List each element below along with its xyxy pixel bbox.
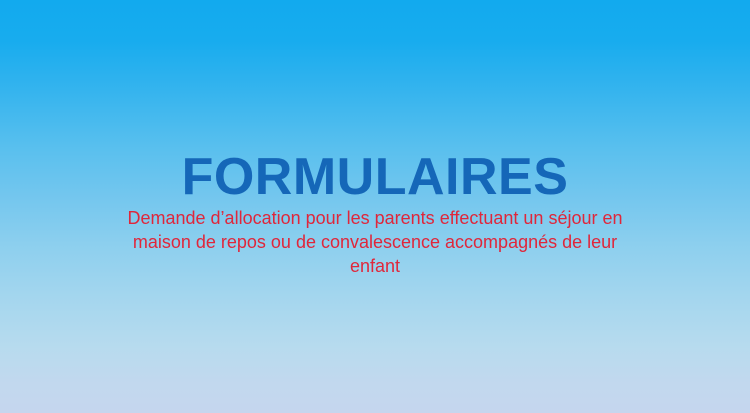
title-block: FORMULAIRES Demande d’allocation pour le… [0,148,750,278]
slide-subtitle: Demande d’allocation pour les parents ef… [0,206,750,278]
subtitle-line-2: maison de repos ou de convalescence acco… [100,230,650,254]
page-title: FORMULAIRES [0,148,750,206]
slide-canvas: FORMULAIRES Demande d’allocation pour le… [0,0,750,413]
subtitle-line-3: enfant [100,254,650,278]
subtitle-line-1: Demande d’allocation pour les parents ef… [100,206,650,230]
